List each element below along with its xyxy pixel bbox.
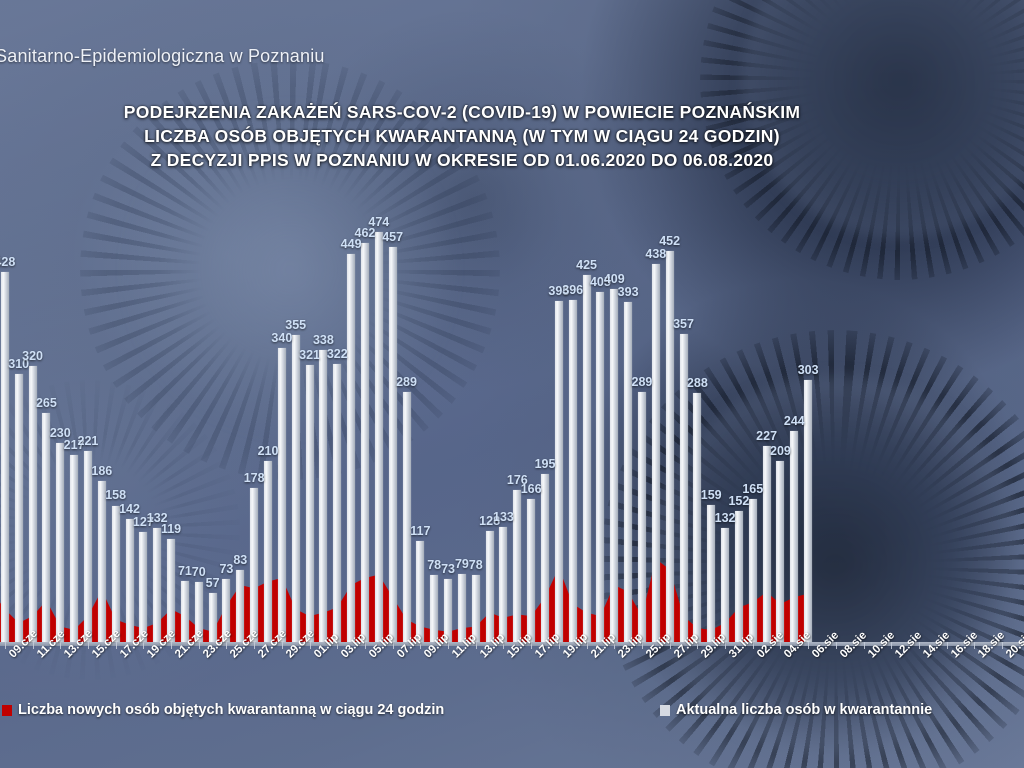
- bar: [389, 247, 397, 642]
- chart-plot-area: 4314283103202652302172211861581421271321…: [0, 210, 1024, 642]
- bar: [167, 539, 175, 642]
- bar: [416, 541, 424, 642]
- bar-value-label: 117: [410, 524, 430, 538]
- bar-value-label: 322: [327, 347, 348, 361]
- bar-value-label: 133: [493, 510, 514, 524]
- bar: [430, 575, 438, 642]
- bar: [70, 455, 78, 642]
- bar: [499, 527, 507, 642]
- legend-label-new-cases: Liczba nowych osób objętych kwarantanną …: [18, 702, 444, 718]
- bar: [181, 581, 189, 642]
- bar-value-label: 393: [618, 285, 639, 299]
- bar-value-label: 457: [382, 230, 403, 244]
- bar-value-label: 288: [687, 376, 708, 390]
- x-axis-tick: [88, 642, 89, 649]
- bar: [139, 532, 147, 642]
- legend-label-current-quarantine: Aktualna liczba osób w kwarantannie: [676, 702, 932, 718]
- bar: [98, 481, 106, 642]
- bar: [569, 300, 577, 642]
- bar: [652, 264, 660, 642]
- bar: [749, 499, 757, 642]
- bar: [278, 348, 286, 642]
- bar: [209, 593, 217, 642]
- bar-value-label: 209: [770, 444, 791, 458]
- x-axis-tick: [365, 642, 366, 649]
- bar: [763, 446, 771, 642]
- bar-value-label: 221: [78, 434, 99, 448]
- legend-item-new-cases: Liczba nowych osób objętych kwarantanną …: [2, 702, 444, 718]
- bar: [1, 272, 9, 642]
- legend-swatch-grey-icon: [660, 705, 670, 716]
- bar: [112, 506, 120, 643]
- legend-item-current-quarantine: Aktualna liczba osób w kwarantannie: [660, 702, 932, 718]
- bar: [236, 570, 244, 642]
- bar: [306, 365, 314, 642]
- bar-value-label: 195: [535, 457, 556, 471]
- x-axis-tick: [531, 642, 532, 649]
- bar-value-label: 210: [258, 444, 279, 458]
- bar-value-label: 132: [715, 511, 736, 525]
- bar: [693, 393, 701, 642]
- x-axis-tick: [254, 642, 255, 649]
- bar: [541, 474, 549, 642]
- chart-legend: Liczba nowych osób objętych kwarantanną …: [0, 702, 1024, 728]
- bar-value-label: 452: [659, 234, 680, 248]
- bar-value-label: 159: [701, 488, 722, 502]
- bar-value-label: 340: [271, 331, 292, 345]
- bar-value-label: 227: [756, 429, 777, 443]
- bar-value-label: 165: [742, 482, 763, 496]
- bar-value-label: 303: [798, 363, 819, 377]
- x-axis-tick: [919, 642, 920, 649]
- legend-swatch-red-icon: [2, 705, 12, 716]
- bar: [610, 289, 618, 642]
- bar: [333, 364, 341, 642]
- bar: [250, 488, 258, 642]
- x-axis-tick: [559, 642, 560, 649]
- bar: [375, 232, 383, 642]
- bar: [583, 275, 591, 642]
- bar: [527, 499, 535, 642]
- bar-value-label: 73: [219, 562, 233, 576]
- bar: [472, 575, 480, 642]
- bar-value-label: 186: [91, 464, 112, 478]
- bar-value-label: 289: [396, 375, 417, 389]
- bar-value-label: 428: [0, 255, 15, 269]
- bar-value-label: 158: [105, 488, 126, 502]
- x-axis-tick: [808, 642, 809, 649]
- bar: [513, 490, 521, 642]
- bar: [624, 302, 632, 642]
- bar: [126, 519, 134, 642]
- bar: [555, 301, 563, 642]
- bar-value-label: 79: [455, 557, 469, 571]
- bar-value-label: 265: [36, 396, 57, 410]
- bar: [361, 243, 369, 642]
- bar: [666, 251, 674, 642]
- title-line-2: LICZBA OSÓB OBJĘTYCH KWARANTANNĄ (W TYM …: [0, 124, 924, 148]
- bar: [292, 335, 300, 642]
- bar-value-label: 409: [604, 272, 625, 286]
- bar: [84, 451, 92, 642]
- bar: [347, 254, 355, 642]
- bar-value-label: 119: [161, 522, 181, 536]
- x-axis-tick: [448, 642, 449, 649]
- bar: [458, 574, 466, 642]
- x-axis-tick: [642, 642, 643, 649]
- x-axis-tick: [171, 642, 172, 649]
- bar-value-label: 244: [784, 414, 805, 428]
- bar: [707, 505, 715, 642]
- bar-value-label: 357: [673, 317, 694, 331]
- x-axis-tick: [1002, 642, 1003, 649]
- bar-value-label: 71: [178, 564, 192, 578]
- bar-value-label: 425: [576, 258, 597, 272]
- bar-value-label: 166: [521, 482, 542, 496]
- bar: [319, 350, 327, 642]
- bar-value-label: 57: [206, 576, 220, 590]
- bar: [486, 531, 494, 642]
- organization-name: wa Stacja Sanitarno-Epidemiologiczna w P…: [0, 46, 610, 67]
- bar-value-label: 178: [244, 471, 265, 485]
- bar-value-label: 78: [427, 558, 441, 572]
- bar: [15, 374, 23, 642]
- bar: [638, 392, 646, 642]
- bar: [776, 461, 784, 642]
- bar-value-label: 83: [233, 553, 247, 567]
- bar-value-label: 289: [632, 375, 653, 389]
- bar-value-label: 73: [441, 562, 455, 576]
- page-title: PODEJRZENIA ZAKAŻEŃ SARS-COV-2 (COVID-19…: [0, 100, 924, 172]
- bar: [56, 443, 64, 642]
- x-axis-tick: [725, 642, 726, 649]
- bar-value-label: 320: [22, 349, 43, 363]
- bar: [444, 579, 452, 642]
- bar: [264, 461, 272, 642]
- bar-value-label: 438: [645, 247, 666, 261]
- bar-value-label: 78: [469, 558, 483, 572]
- title-line-3: Z DECYZJI PPIS W POZNANIU W OKRESIE OD 0…: [0, 148, 924, 172]
- bar: [790, 431, 798, 642]
- x-axis-tick: [836, 642, 837, 649]
- x-axis-tick: [5, 642, 6, 649]
- bar: [403, 392, 411, 642]
- bar-value-label: 142: [119, 502, 140, 516]
- bar-value-label: 70: [192, 565, 206, 579]
- bar: [721, 528, 729, 642]
- bar-value-label: 474: [368, 215, 389, 229]
- bar: [596, 292, 604, 642]
- bar: [804, 380, 812, 642]
- bar-value-label: 338: [313, 333, 334, 347]
- bar: [42, 413, 50, 642]
- bar-value-label: 355: [285, 318, 306, 332]
- bar-value-label: 321: [299, 348, 320, 362]
- title-line-1: PODEJRZENIA ZAKAŻEŃ SARS-COV-2 (COVID-19…: [0, 100, 924, 124]
- bar: [735, 511, 743, 642]
- x-axis-tick: [282, 642, 283, 649]
- bar-value-label: 396: [562, 283, 583, 297]
- bar: [153, 528, 161, 642]
